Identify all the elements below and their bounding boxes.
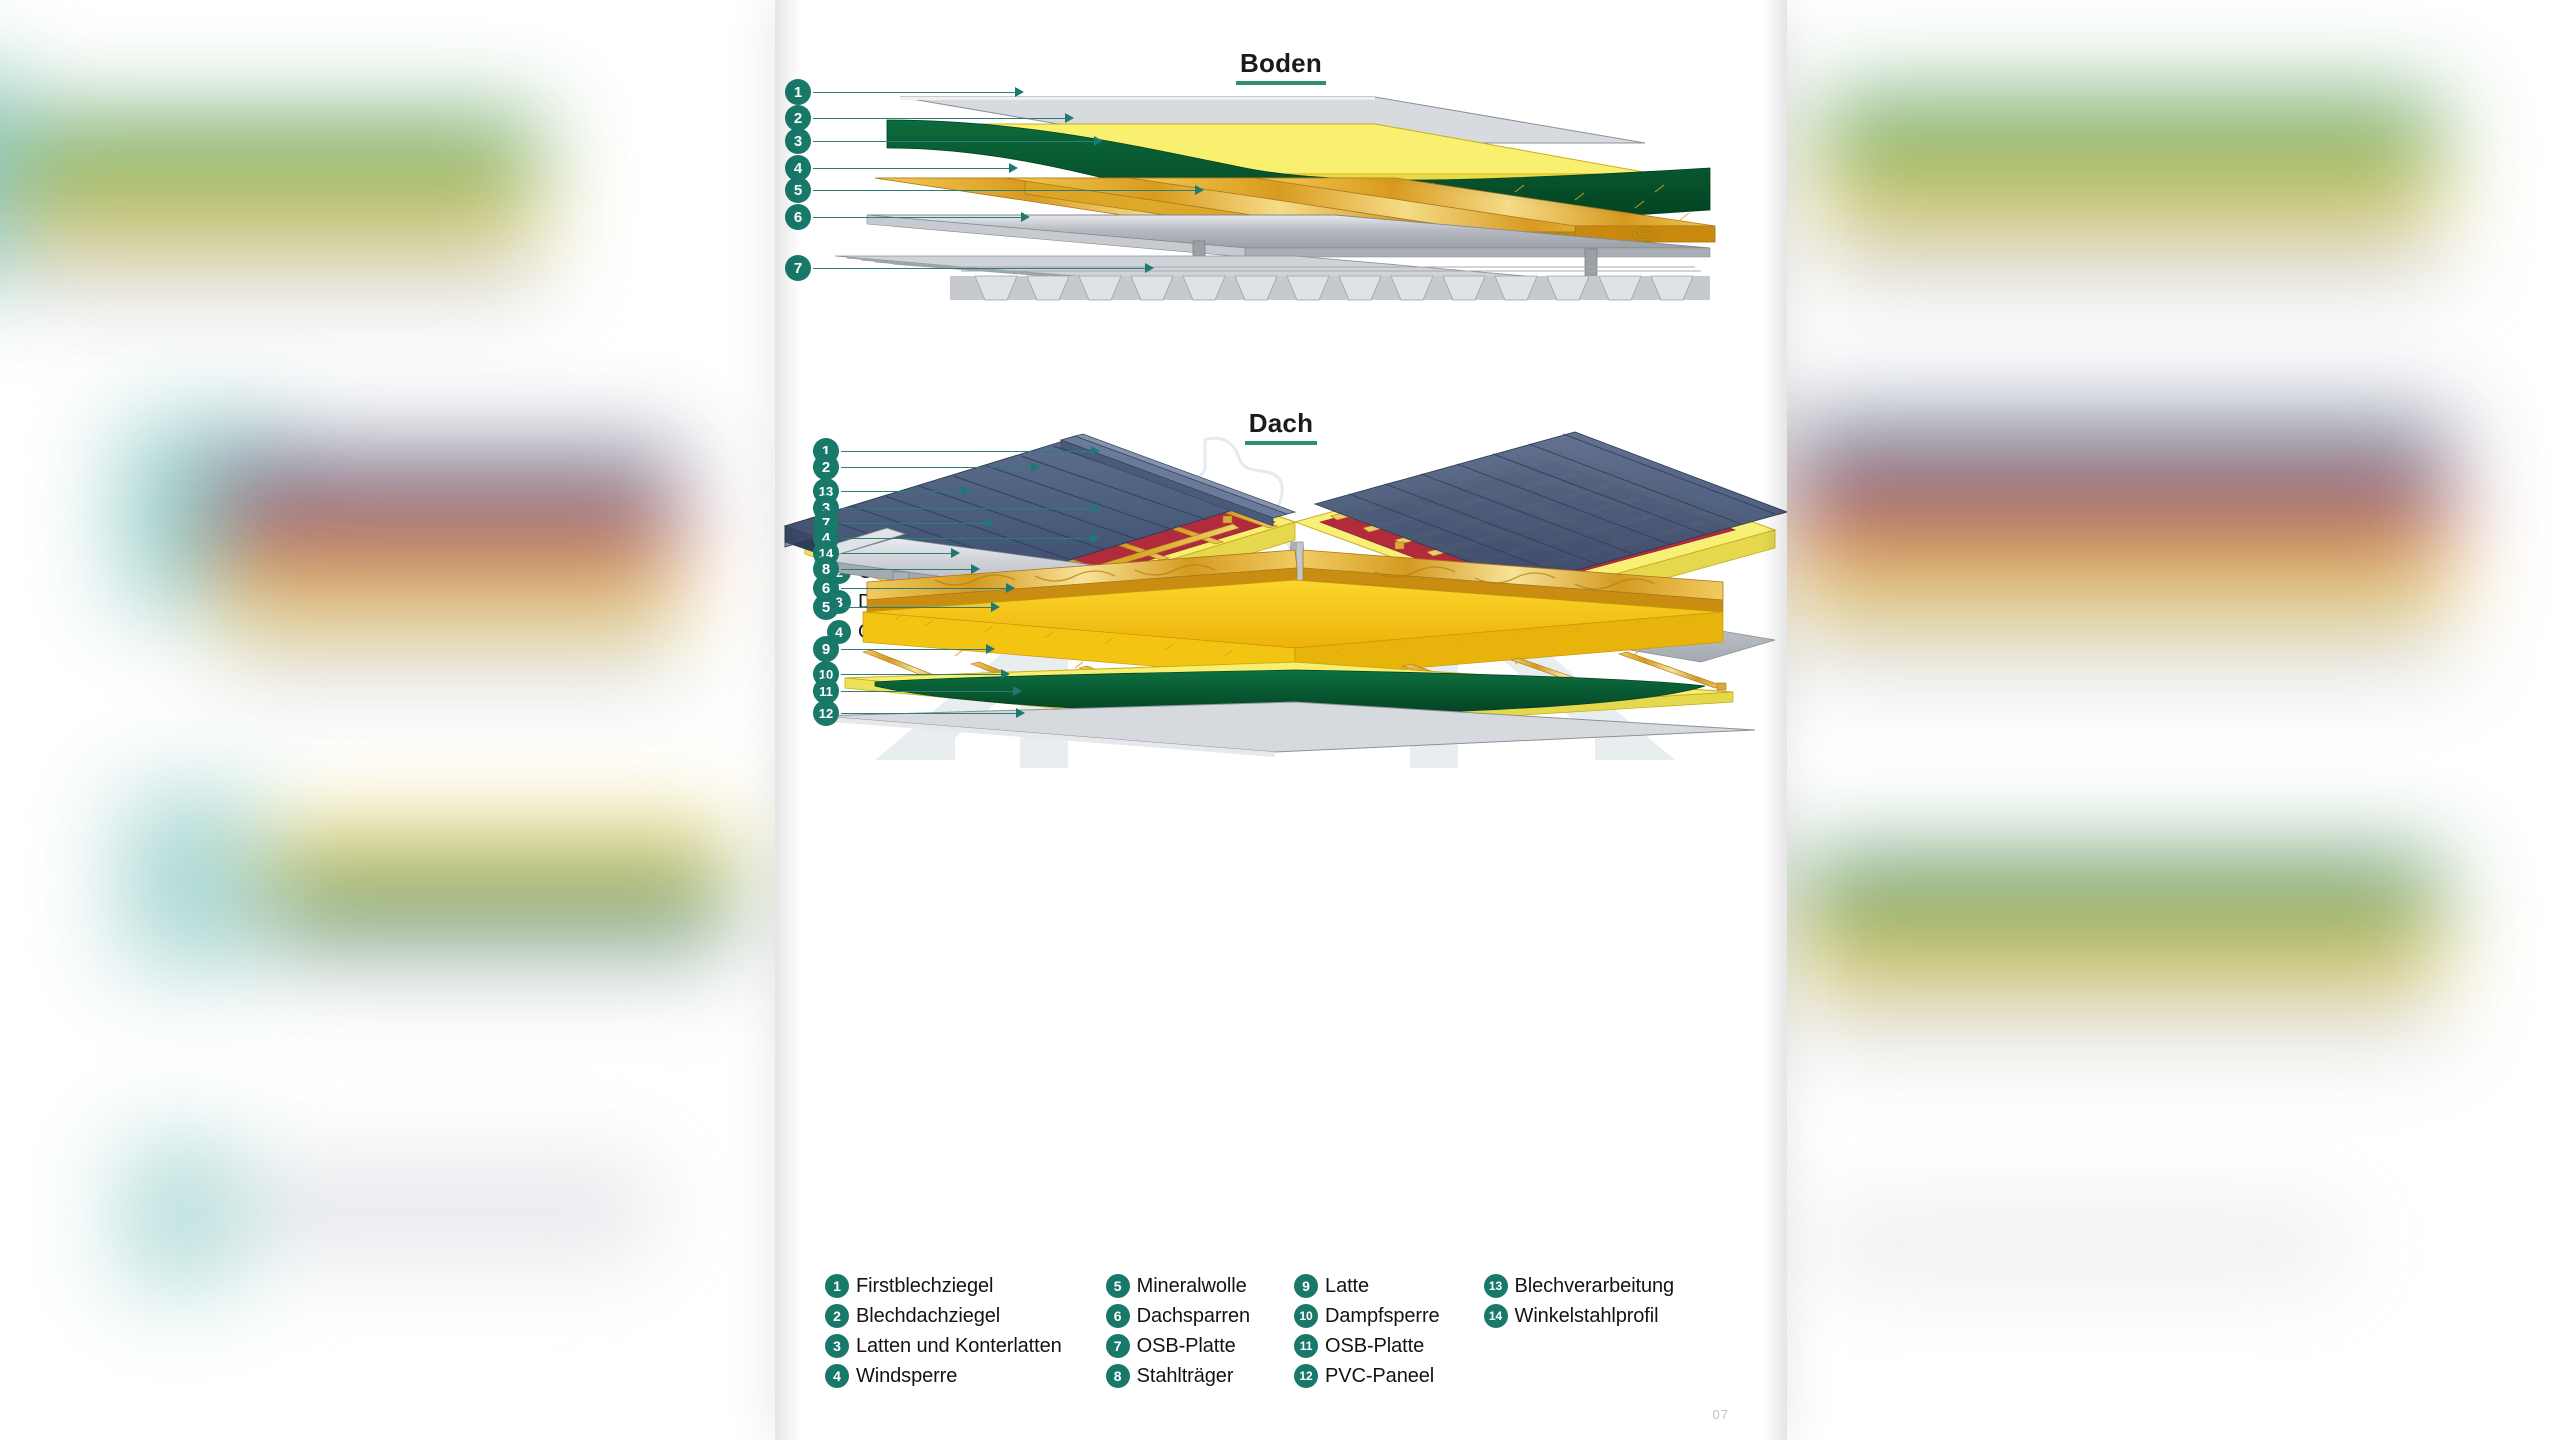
legend-number-badge: 1 [825,1274,849,1298]
legend-label: OSB-Platte [1137,1335,1236,1358]
legend-item-7: 7OSB-Platte [1106,1332,1250,1360]
bg-blur-shape [0,40,480,340]
callout-arrowhead [1091,533,1100,543]
legend-column-1: 1Firstblechziegel2Blechdachziegel3Latten… [825,1272,1062,1390]
callout-leader-line [841,451,1091,452]
legend-label: Dachsparren [1137,1305,1250,1328]
callout-leader-line [841,538,1091,539]
legend-item-10: 10Dampfsperre [1294,1302,1440,1330]
callout-arrowhead [986,644,995,654]
bg-blur-shape [0,380,580,740]
callout-leader-line [841,508,1091,509]
callout-leader-line [813,217,1021,218]
callout-arrowhead [1094,136,1103,146]
legend-label: PVC-Paneel [1325,1365,1434,1388]
callout-badge: 7 [785,255,811,281]
legend-number-badge: 3 [825,1334,849,1358]
legend-item-1: 1Firstblechziegel [825,1272,1062,1300]
callout-badge: 5 [813,594,839,620]
callout-arrowhead [1013,686,1022,696]
callout-leader-line [841,553,951,554]
document-page: Boden [775,0,1787,1440]
legend-number-badge: 11 [1294,1334,1318,1358]
legend-label: Dampfsperre [1325,1305,1440,1328]
legend-number-badge: 5 [1106,1274,1130,1298]
legend-label: Blechverarbeitung [1515,1275,1675,1298]
legend-label: Windsperre [856,1365,957,1388]
callout-leader-line [841,649,986,650]
callout-arrowhead [1195,185,1204,195]
legend-label: OSB-Platte [1325,1335,1424,1358]
legend-number-badge: 13 [1484,1274,1508,1298]
legend-item-9: 9Latte [1294,1272,1440,1300]
legend-item-6: 6Dachsparren [1106,1302,1250,1330]
callout-leader-line [841,607,991,608]
callout-arrowhead [1065,113,1074,123]
legend-column-2: 5Mineralwolle6Dachsparren7OSB-Platte8Sta… [1106,1272,1250,1390]
callout-leader-line [841,674,1001,675]
callout-arrowhead [951,548,960,558]
callout-leader-line [841,491,961,492]
callout-badge: 5 [785,177,811,203]
callout-badge: 1 [785,79,811,105]
callout-arrowhead [1091,503,1100,513]
callout-leader-line [841,691,1013,692]
legend-item-14: 14Winkelstahlprofil [1484,1302,1675,1330]
legend-item-3: 3Latten und Konterlatten [825,1332,1062,1360]
callout-arrowhead [986,518,995,528]
callout-leader-line [813,190,1195,191]
callout-arrowhead [991,602,1000,612]
callout-badge: 9 [813,636,839,662]
legend-label: Firstblechziegel [856,1275,993,1298]
layer-trapezblech [835,256,1710,300]
callout-arrowhead [1145,263,1154,273]
callout-badge: 2 [813,454,839,480]
legend-number-badge: 7 [1106,1334,1130,1358]
legend-label: Winkelstahlprofil [1515,1305,1659,1328]
legend-label: Stahlträger [1137,1365,1234,1388]
legend-number-badge: 8 [1106,1364,1130,1388]
legend-item-8: 8Stahlträger [1106,1362,1250,1390]
callout-arrowhead [1021,212,1030,222]
bg-blur-shape [1820,1180,2520,1440]
callout-arrowhead [1006,583,1015,593]
legend-item-13: 13Blechverarbeitung [1484,1272,1675,1300]
callout-arrowhead [1031,462,1040,472]
legend-item-4: 4Windsperre [825,1362,1062,1390]
callout-leader-line [841,588,1006,589]
legend-item-12: 12PVC-Paneel [1294,1362,1440,1390]
legend-label: Blechdachziegel [856,1305,1000,1328]
legend-number-badge: 2 [825,1304,849,1328]
legend-column-4: 13Blechverarbeitung14Winkelstahlprofil [1484,1272,1675,1390]
dach-diagram [775,430,1787,760]
legend-number-badge: 10 [1294,1304,1318,1328]
callout-arrowhead [1015,87,1024,97]
callout-badge: 6 [785,204,811,230]
legend-label: Mineralwolle [1137,1275,1247,1298]
legend-column-3: 9Latte10Dampfsperre11OSB-Platte12PVC-Pan… [1294,1272,1440,1390]
callout-arrowhead [1009,163,1018,173]
legend-label: Latten und Konterlatten [856,1335,1062,1358]
legend-number-badge: 12 [1294,1364,1318,1388]
callout-leader-line [841,467,1031,468]
callout-leader-line [841,523,986,524]
legend-number-badge: 4 [825,1364,849,1388]
callout-arrowhead [1016,708,1025,718]
boden-diagram [775,60,1787,340]
legend-number-badge: 14 [1484,1304,1508,1328]
callout-leader-line [813,118,1065,119]
legend-item-2: 2Blechdachziegel [825,1302,1062,1330]
callout-leader-line [813,168,1009,169]
callout-arrowhead [1091,446,1100,456]
legend-label: Latte [1325,1275,1369,1298]
callout-leader-line [813,92,1015,93]
legend-item-5: 5Mineralwolle [1106,1272,1250,1300]
callout-arrowhead [971,564,980,574]
callout-badge: 3 [785,128,811,154]
callout-arrowhead [961,486,970,496]
callout-leader-line [841,569,971,570]
legend-item-11: 11OSB-Platte [1294,1332,1440,1360]
legend-number-badge: 6 [1106,1304,1130,1328]
bg-blur-shape [1820,40,2560,360]
page-number: 07 [1713,1407,1729,1422]
legend-number-badge: 9 [1294,1274,1318,1298]
bg-blur-shape [1800,820,2560,1160]
bg-blur-shape [60,1080,700,1380]
dach-legend: 1Firstblechziegel2Blechdachziegel3Latten… [825,1272,1674,1390]
callout-badge: 12 [813,700,839,726]
callout-leader-line [841,713,1016,714]
callout-arrowhead [1001,669,1010,679]
layer-pvc-paneel [819,702,1755,757]
bg-blur-shape [60,760,760,1060]
callout-leader-line [813,268,1145,269]
bg-blur-shape [1790,380,2560,780]
callout-leader-line [813,141,1094,142]
